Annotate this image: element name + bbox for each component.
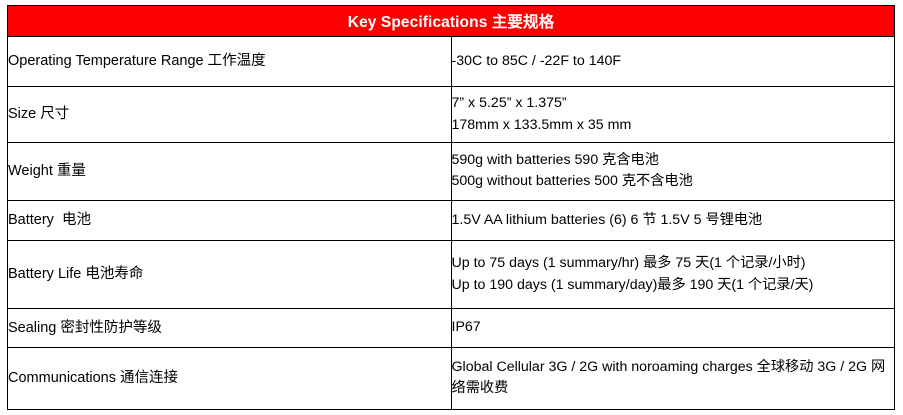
row-label-size: Size 尺寸 <box>8 87 452 142</box>
row-label-sealing: Sealing 密封性防护等级 <box>8 309 452 347</box>
table-row: Communications 通信连接 Global Cellular 3G /… <box>8 347 895 409</box>
row-value-battery-life: Up to 75 days (1 summary/hr) 最多 75 天(1 个… <box>451 241 895 309</box>
table-row: Size 尺寸 7” x 5.25” x 1.375” 178mm x 133.… <box>8 87 895 142</box>
row-label-operating-temperature-range: Operating Temperature Range 工作温度 <box>8 37 452 87</box>
table-row: Sealing 密封性防护等级 IP67 <box>8 309 895 347</box>
row-value-sealing: IP67 <box>451 309 895 347</box>
table-title: Key Specifications 主要规格 <box>8 6 895 37</box>
row-value-operating-temperature-range: -30C to 85C / -22F to 140F <box>451 37 895 87</box>
table-row: Battery Life 电池寿命 Up to 75 days (1 summa… <box>8 241 895 309</box>
specifications-table-container: Key Specifications 主要规格 Operating Temper… <box>7 5 895 410</box>
row-label-communications: Communications 通信连接 <box>8 347 452 409</box>
key-specifications-table: Key Specifications 主要规格 Operating Temper… <box>7 5 895 410</box>
table-row: Battery 电池 1.5V AA lithium batteries (6)… <box>8 200 895 240</box>
row-label-weight: Weight 重量 <box>8 142 452 200</box>
row-value-weight: 590g with batteries 590 克含电池 500g withou… <box>451 142 895 200</box>
table-row: Operating Temperature Range 工作温度 -30C to… <box>8 37 895 87</box>
table-row: Weight 重量 590g with batteries 590 克含电池 5… <box>8 142 895 200</box>
row-label-battery-life: Battery Life 电池寿命 <box>8 241 452 309</box>
row-value-communications: Global Cellular 3G / 2G with noroaming c… <box>451 347 895 409</box>
row-value-battery: 1.5V AA lithium batteries (6) 6 节 1.5V 5… <box>451 200 895 240</box>
row-value-size: 7” x 5.25” x 1.375” 178mm x 133.5mm x 35… <box>451 87 895 142</box>
row-label-battery: Battery 电池 <box>8 200 452 240</box>
table-header-row: Key Specifications 主要规格 <box>8 6 895 37</box>
